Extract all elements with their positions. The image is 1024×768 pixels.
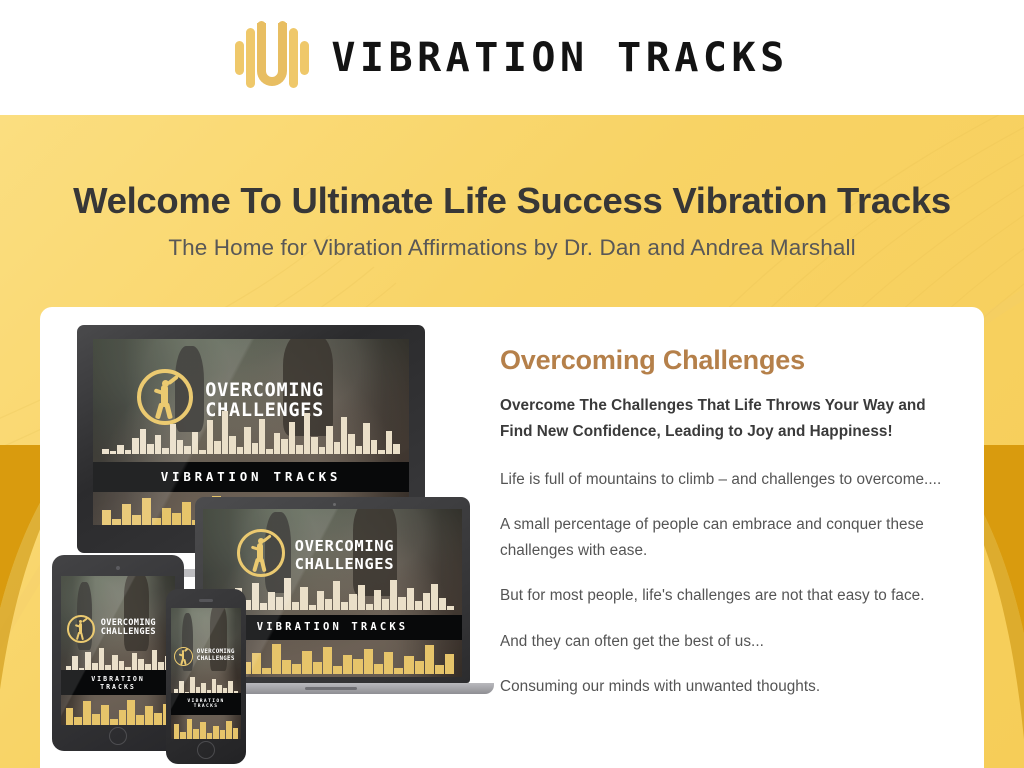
waveform-top: [66, 645, 171, 672]
product-mockup-column: OVERCOMING CHALLENGES: [40, 307, 492, 768]
product-paragraph-5: Consuming our minds with unwanted though…: [500, 674, 944, 700]
smartphone-mockup: OVERCOMING CHALLENGES VIBRATION TRACKS: [166, 589, 246, 764]
tablet-mockup: OVERCOMING CHALLENGES VIBRATION TRACKS: [52, 555, 184, 751]
cover-title: OVERCOMING CHALLENGES: [295, 538, 395, 573]
cover-footer-text: VIBRATION TRACKS: [161, 469, 341, 484]
cover-footer-line2: TRACKS: [100, 683, 136, 691]
page-subtitle: The Home for Vibration Affirmations by D…: [0, 235, 1024, 261]
vibration-waveform-icon: [235, 21, 309, 95]
cover-footer-bar: VIBRATION TRACKS: [61, 670, 175, 695]
hero-copy: Welcome To Ultimate Life Success Vibrati…: [0, 115, 1024, 261]
product-paragraph-1: Life is full of mountains to climb – and…: [500, 467, 944, 493]
product-lead: Overcome The Challenges That Life Throws…: [500, 393, 944, 446]
cover-footer-bar: VIBRATION TRACKS: [93, 462, 409, 492]
waveform-top: [211, 573, 454, 610]
cover-title: OVERCOMING CHALLENGES: [101, 619, 156, 638]
waveform-top: [102, 406, 399, 454]
product-copy-column: Overcoming Challenges Overcome The Chall…: [492, 307, 984, 768]
hero-section: Welcome To Ultimate Life Success Vibrati…: [0, 115, 1024, 768]
waveform-bottom: [211, 640, 454, 674]
cover-footer-bar: VIBRATION TRACKS: [171, 693, 241, 715]
site-header: VIBRATION TRACKS: [0, 0, 1024, 115]
waveform-top: [174, 674, 238, 695]
cover-footer-line1: VIBRATION: [91, 675, 145, 683]
phone-screen: OVERCOMING CHALLENGES VIBRATION TRACKS: [171, 608, 241, 739]
brand-logo[interactable]: VIBRATION TRACKS: [235, 21, 788, 95]
product-card: OVERCOMING CHALLENGES: [40, 307, 984, 768]
waveform-bottom: [66, 697, 171, 725]
product-heading: Overcoming Challenges: [500, 345, 944, 376]
brand-wordmark: VIBRATION TRACKS: [331, 35, 788, 81]
cover-footer-line2: TRACKS: [194, 704, 219, 709]
page-title: Welcome To Ultimate Life Success Vibrati…: [0, 181, 1024, 222]
device-mockup-group: OVERCOMING CHALLENGES: [40, 325, 492, 768]
product-paragraph-2: A small percentage of people can embrace…: [500, 512, 944, 565]
waveform-bottom: [174, 715, 238, 739]
product-paragraph-4: And they can often get the best of us...: [500, 629, 944, 655]
product-paragraph-3: But for most people, life's challenges a…: [500, 583, 944, 609]
tablet-screen: OVERCOMING CHALLENGES VIBRATION TRACKS: [61, 576, 175, 725]
cover-footer-text: VIBRATION TRACKS: [257, 621, 409, 633]
cover-title: OVERCOMING CHALLENGES: [197, 649, 235, 662]
